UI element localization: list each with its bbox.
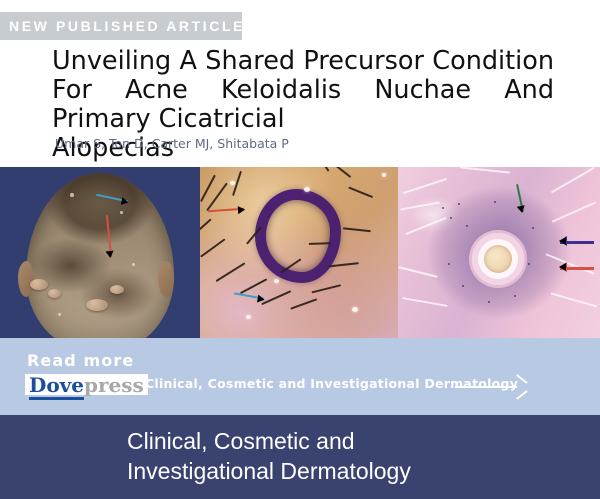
dovepress-logo-secondary: press [84,373,144,397]
status-badge: NEW PUBLISHED ARTICLE [0,12,242,40]
poster-footer: Clinical, Cosmetic and Investigational D… [0,415,600,499]
dermoscopy-speck [246,315,251,319]
poster-header: NEW PUBLISHED ARTICLE Unveiling A Shared… [0,0,600,167]
dovepress-logo[interactable]: Dovepress [25,374,148,395]
figure-strip [0,167,600,338]
footer-journal-title: Clinical, Cosmetic and Investigational D… [127,426,411,486]
lesion-bump [110,285,124,294]
scalp-speck [70,193,74,197]
lesion-bump [30,279,48,290]
lesion-bump [48,289,61,298]
dovepress-logo-primary: Dove [29,373,84,400]
hair-follicle-core [484,245,512,273]
dermoscopy-speck [230,181,235,185]
ear-left-shape [18,261,34,297]
figure-panel-histology [398,167,600,338]
figure-panel-dermoscopy [200,167,398,338]
scalp-speck [58,313,61,316]
scalp-speck [120,211,123,214]
lesion-bump [86,299,108,311]
figure-panel-clinical-photo [0,167,200,338]
dermoscopy-speck [274,279,279,283]
footer-journal-line-2: Investigational Dermatology [127,456,411,486]
scalp-speck [132,263,135,266]
dermoscopy-speck [382,173,386,177]
dermoscopy-speck [304,187,310,192]
annotation-arrow-blue [560,241,594,244]
occipital-scalp-illustration [26,173,174,338]
ear-right-shape [158,261,174,297]
author-list: Umar S, Ton D, Carter MJ, Shitabata P [55,136,289,151]
footer-journal-line-1: Clinical, Cosmetic and [127,426,411,456]
purple-marker-ring [255,189,341,283]
status-badge-label: NEW PUBLISHED ARTICLE [0,18,245,34]
arrow-shaft [455,386,517,388]
page-title-line-2: Acne Keloidalis Nuchae And Primary Cicat… [52,75,554,134]
read-more-label[interactable]: Read more [27,351,134,370]
annotation-arrow-red [560,267,594,270]
dermoscopy-speck [352,307,358,312]
article-promo-poster: NEW PUBLISHED ARTICLE Unveiling A Shared… [0,0,600,499]
long-right-arrow-icon[interactable] [455,381,527,393]
